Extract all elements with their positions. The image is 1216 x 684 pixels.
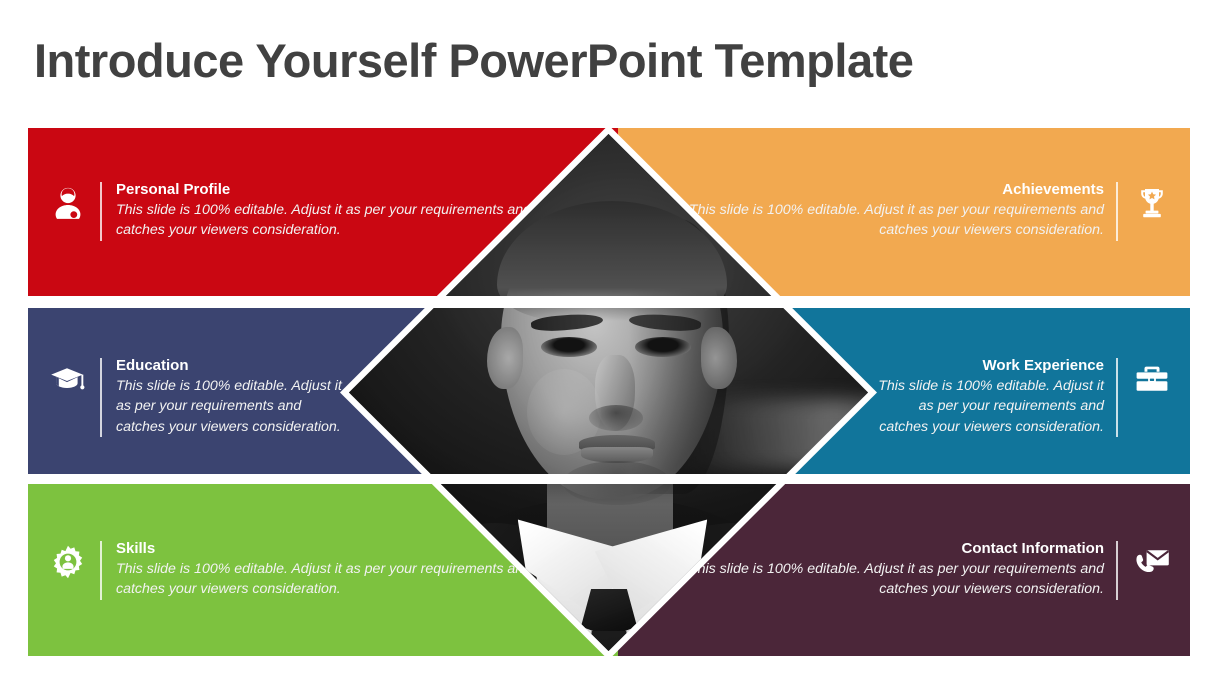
graduation-cap-icon	[48, 358, 88, 400]
panel-divider	[1116, 182, 1118, 241]
page-title: Introduce Yourself PowerPoint Template	[34, 36, 1134, 87]
panel-divider	[100, 358, 102, 437]
panel-heading: Education	[116, 356, 351, 375]
panel-divider	[1116, 358, 1118, 437]
panel-heading: Personal Profile	[116, 180, 536, 199]
panel-divider	[1116, 541, 1118, 600]
panel-body: This slide is 100% editable. Adjust it a…	[116, 559, 536, 599]
panel-heading: Contact Information	[684, 539, 1104, 558]
panel-body: This slide is 100% editable. Adjust it a…	[869, 376, 1104, 436]
row-gap-2	[0, 474, 1216, 484]
envelope-phone-icon	[1132, 541, 1172, 583]
panel-heading: Achievements	[684, 180, 1104, 199]
panel-body: This slide is 100% editable. Adjust it a…	[116, 376, 351, 436]
row-gap-1	[0, 296, 1216, 308]
row-gap-bottom	[0, 656, 1216, 684]
panel-divider	[100, 182, 102, 241]
panel-body: This slide is 100% editable. Adjust it a…	[684, 559, 1104, 599]
briefcase-icon	[1132, 358, 1172, 400]
panel-divider	[100, 541, 102, 600]
panel-heading: Work Experience	[869, 356, 1104, 375]
panel-body: This slide is 100% editable. Adjust it a…	[116, 200, 536, 240]
panel-heading: Skills	[116, 539, 536, 558]
panel-body: This slide is 100% editable. Adjust it a…	[684, 200, 1104, 240]
trophy-icon	[1132, 182, 1172, 224]
gear-person-icon	[48, 541, 88, 583]
user-profile-icon	[48, 182, 88, 224]
